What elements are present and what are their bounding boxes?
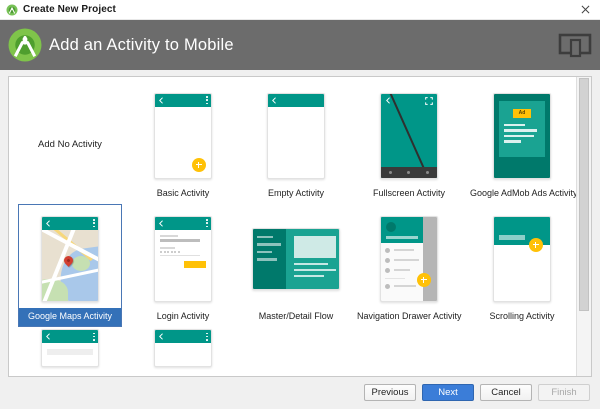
thumb-admob-card: Ad [499,101,545,157]
thumb-nav-bar [381,167,437,178]
thumbnail-wrap [357,85,461,186]
text-line [504,124,525,127]
list-item [385,284,419,289]
thumb-appbar [42,330,98,343]
thumbnail-wrap [131,208,235,309]
gallery-row-partial [9,327,576,367]
thumb-fullscreen-body [381,94,437,178]
detail-pane [286,229,339,289]
thumbnail-wrap [470,208,574,309]
back-arrow-icon [45,333,52,340]
back-arrow-icon [158,333,165,340]
scrollbar-thumb[interactable] [579,78,589,311]
overflow-dots-icon [206,333,208,341]
close-icon[interactable] [574,1,596,19]
activity-tile-empty-activity[interactable]: Empty Activity [244,81,348,204]
overflow-dots-icon [206,96,208,104]
activity-tile-label: Fullscreen Activity [357,186,461,204]
activity-tile-fullscreen-activity[interactable]: Fullscreen Activity [357,81,461,204]
page-title: Add an Activity to Mobile [49,36,234,55]
window-title: Create New Project [23,4,116,15]
back-arrow-icon [45,220,52,227]
thumbnail-login-activity [154,216,212,302]
activity-tile-master-detail-flow[interactable]: Master/Detail Flow [244,204,348,327]
activity-tile-partial[interactable] [131,327,235,367]
field-caption [160,247,175,249]
activity-tile-label: Google AdMob Ads Activity [470,186,574,204]
mobile-device-icon [558,32,592,58]
activity-tile-google-admob-ads-activity[interactable]: Ad Google AdMob Ads Activity [470,81,574,204]
gallery-row: Add No Activity [9,81,576,204]
activity-gallery-frame: Add No Activity [8,76,592,377]
thumbnail-wrap [244,85,348,186]
text-line [294,275,324,278]
master-pane [253,229,286,289]
previous-button[interactable]: Previous [364,384,416,401]
thumbnail-partial [154,329,212,367]
back-arrow-icon [158,97,165,104]
thumb-appbar [268,94,324,107]
diagonal-line [387,94,437,178]
divider [385,278,405,279]
list-item [385,268,419,273]
thumbnail-wrap [131,85,235,186]
dialog-footer: Previous Next Cancel Finish [0,377,600,409]
back-arrow-icon [385,97,392,104]
thumbnail-navigation-drawer-activity [380,216,438,302]
overflow-dots-icon [206,219,208,227]
content-line [47,349,93,355]
sign-in-button [184,261,206,268]
gallery-scrollbar[interactable] [576,77,591,376]
thumbnail-wrap: Ad [470,85,574,186]
text-line [294,269,336,272]
thumb-fab [417,273,431,287]
field-caption [160,235,178,237]
activity-tile-label: Google Maps Activity [19,308,121,326]
thumb-fab [529,238,543,252]
cancel-button[interactable]: Cancel [480,384,532,401]
overflow-dots-icon [93,333,95,341]
text-line [504,135,534,138]
activity-tile-login-activity[interactable]: Login Activity [131,204,235,327]
list-item [385,258,419,263]
text-line [504,129,537,132]
activity-tile-partial[interactable] [18,327,122,367]
thumb-appbar [155,217,211,230]
thumbnail-wrap [19,209,121,308]
android-studio-icon [6,4,18,16]
activity-tile-label: Master/Detail Flow [244,309,348,327]
list-item [385,248,419,253]
list-item [257,258,277,261]
list-item [257,251,272,254]
window-title-bar: Create New Project [0,0,600,20]
thumbnail-fullscreen-activity [380,93,438,179]
thumbnail-wrap [244,208,348,309]
activity-tile-add-no-activity[interactable]: Add No Activity [18,81,122,204]
back-arrow-icon [158,220,165,227]
text-line [294,263,328,266]
thumb-appbar [155,94,211,107]
back-arrow-icon [271,97,278,104]
thumb-fab [192,158,206,172]
thumbnail-scrolling-activity [493,216,551,302]
thumb-login-form [155,230,211,301]
drawer-list [381,243,423,301]
activity-tile-basic-activity[interactable]: Basic Activity [131,81,235,204]
activity-tile-label: Empty Activity [244,186,348,204]
detail-image [294,236,336,258]
dialog-header: Add an Activity to Mobile [0,20,600,70]
thumbnail-empty-activity [267,93,325,179]
activity-tile-google-maps-activity[interactable]: Google Maps Activity [18,204,122,327]
thumb-appbar [155,330,211,343]
next-button[interactable]: Next [422,384,474,401]
dialog-body: Add No Activity [0,70,600,377]
drawer-subtitle [386,236,418,239]
android-studio-logo [7,27,43,63]
thumbnail-basic-activity [154,93,212,179]
gallery-row: Google Maps Activity [9,204,576,327]
password-dots [160,251,206,253]
ad-badge: Ad [513,109,531,118]
thumbnail-partial [41,329,99,367]
thumbnail-wrap [357,208,461,309]
thumbnail-admob-activity: Ad [493,93,551,179]
activity-tile-label: Scrolling Activity [470,309,574,327]
appbar-title [499,235,525,240]
create-new-project-dialog: Create New Project Add an Activity to Mo… [0,0,600,409]
activity-gallery: Add No Activity [9,77,576,376]
thumb-appbar [42,217,98,230]
activity-tile-label: Basic Activity [131,186,235,204]
activity-tile-label: Add No Activity [18,139,122,150]
activity-tile-label: Login Activity [131,309,235,327]
field-underline [160,255,200,256]
email-field-line [160,239,200,242]
drawer-header [381,217,423,243]
list-item [257,243,281,246]
activity-tile-label: Navigation Drawer Activity [357,309,461,327]
finish-button: Finish [538,384,590,401]
thumbnail-maps-activity [41,216,99,302]
thumbnail-master-detail-flow [252,228,340,290]
text-line [504,140,521,143]
thumb-admob-frame: Ad [494,94,550,178]
expand-icon [425,97,433,105]
avatar [386,222,396,232]
list-item [257,236,273,239]
thumb-map [42,230,98,301]
overflow-dots-icon [93,219,95,227]
activity-tile-scrolling-activity[interactable]: Scrolling Activity [470,204,574,327]
activity-tile-navigation-drawer-activity[interactable]: Navigation Drawer Activity [357,204,461,327]
